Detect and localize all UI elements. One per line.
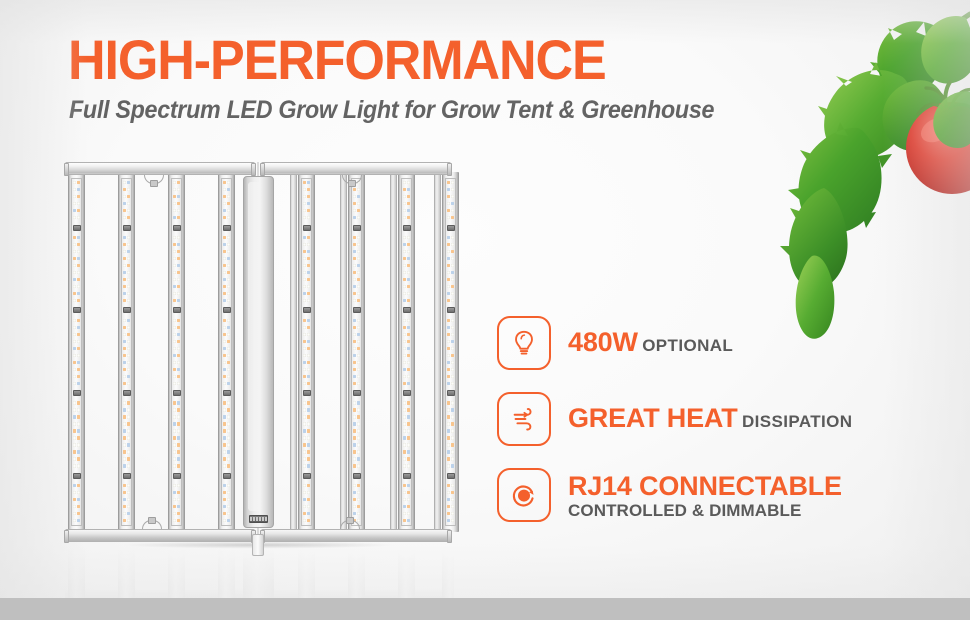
led-chip [77,333,80,336]
led-bar-face [351,178,362,526]
led-chip [407,285,410,288]
led-row [402,216,411,219]
led-chip [127,519,130,522]
led-chip [173,188,176,191]
led-bar-driver-chip [173,307,181,313]
led-chip [353,243,356,246]
led-chip [307,498,310,501]
led-chip [173,415,176,418]
led-chip [223,236,226,239]
led-chip [73,498,76,501]
led-row [402,326,411,329]
led-row [222,464,231,467]
led-row [352,436,361,439]
led-chip [303,202,306,205]
led-row [72,491,81,494]
led-chip [173,347,176,350]
led-chip [73,354,76,357]
led-row [352,450,361,453]
led-chip [407,292,410,295]
led-row [402,436,411,439]
led-chip [173,519,176,522]
led-row [122,443,131,446]
led-row [352,512,361,515]
led-chip [73,326,76,329]
led-chip [357,236,360,239]
led-chip [407,216,410,219]
led-row [446,333,455,336]
led-row [446,354,455,357]
led-chip [227,188,230,191]
led-row [352,209,361,212]
led-row [122,368,131,371]
led-row [222,209,231,212]
led-chip [223,250,226,253]
led-row [302,209,311,212]
led-row [122,188,131,191]
led-row [446,195,455,198]
led-row [352,326,361,329]
led-chip [451,257,454,260]
led-chip [403,326,406,329]
led-chip [447,368,450,371]
led-chip [73,436,76,439]
led-row [72,264,81,267]
led-chip [173,401,176,404]
led-chip [77,450,80,453]
led-chip [127,512,130,515]
led-chip [447,450,450,453]
driver-output-port [249,515,268,523]
led-row [446,271,455,274]
led-chip [177,333,180,336]
led-row [352,422,361,425]
led-chip [223,188,226,191]
led-row [72,319,81,322]
led-chip [447,436,450,439]
led-bar-reflection [218,548,235,600]
led-chip [447,264,450,267]
led-chip [123,505,126,508]
led-chip [173,464,176,467]
led-row [446,443,455,446]
led-chip [353,326,356,329]
led-row [402,181,411,184]
led-chip [223,450,226,453]
led-chip [357,401,360,404]
led-row [222,457,231,460]
led-row [302,457,311,460]
led-chip [303,429,306,432]
led-chip [77,278,80,281]
led-chip [357,368,360,371]
led-row [222,505,231,508]
led-row [352,236,361,239]
led-bar [298,172,315,532]
led-chip [223,319,226,322]
led-row [172,188,181,191]
led-chip [353,340,356,343]
led-chip [407,368,410,371]
led-row [222,292,231,295]
led-chip [451,375,454,378]
feature-item-rj14-connectable[interactable]: RJ14 CONNECTABLE CONTROLLED & DIMMABLE [497,468,857,522]
led-chip [407,257,410,260]
led-chip [353,250,356,253]
tomato-plant-svg [766,0,970,348]
led-row [302,436,311,439]
led-bar [118,172,135,532]
led-chip [223,340,226,343]
feature-item-heat-dissipation[interactable]: GREAT HEAT DISSIPATION [497,392,857,446]
led-chip [173,512,176,515]
led-row [72,271,81,274]
led-chip [127,326,130,329]
led-row [222,415,231,418]
led-chip [223,257,226,260]
led-row [446,340,455,343]
led-row [352,491,361,494]
led-chip [407,354,410,357]
led-chip [357,361,360,364]
led-chip [73,209,76,212]
led-bar-driver-chip [223,307,231,313]
led-chip [227,278,230,281]
led-row [172,464,181,467]
led-chip [403,257,406,260]
led-chip [303,519,306,522]
led-row [172,450,181,453]
led-chip [403,484,406,487]
led-chip [177,361,180,364]
led-row [122,354,131,357]
led-chip [307,333,310,336]
led-row [222,326,231,329]
led-row [352,216,361,219]
led-chip [123,326,126,329]
led-chip [73,347,76,350]
led-chip [123,464,126,467]
led-chip [223,484,226,487]
led-row [172,415,181,418]
led-chip [357,188,360,191]
led-chip [451,422,454,425]
led-chip [403,292,406,295]
led-row [446,216,455,219]
led-chip [403,243,406,246]
led-chip [123,368,126,371]
led-row [122,457,131,460]
led-chip [123,243,126,246]
led-chip [73,195,76,198]
led-row [172,257,181,260]
led-chip [403,188,406,191]
led-chip [73,429,76,432]
led-row [222,422,231,425]
led-chip [353,236,356,239]
led-chip [173,361,176,364]
led-chip [353,361,356,364]
led-row [222,429,231,432]
led-chip [123,299,126,302]
led-row [172,408,181,411]
airflow-icon [497,392,551,446]
led-row [172,340,181,343]
led-chip [451,250,454,253]
led-row [302,429,311,432]
led-chip [227,202,230,205]
led-chip [173,292,176,295]
led-row [172,422,181,425]
led-chip [303,333,306,336]
led-chip [357,443,360,446]
led-row [72,519,81,522]
led-chip [77,326,80,329]
led-row [72,202,81,205]
led-chip [123,361,126,364]
led-row [302,216,311,219]
led-chip [173,443,176,446]
led-chip [227,408,230,411]
led-chip [403,340,406,343]
led-chip [73,512,76,515]
led-bar-driver-chip [123,307,131,313]
led-chip [303,188,306,191]
led-bar-driver-chip [73,473,81,479]
led-chip [177,292,180,295]
led-chip [177,457,180,460]
led-chip [447,188,450,191]
led-row [446,368,455,371]
led-chip [127,209,130,212]
feature-item-wattage[interactable]: 480W OPTIONAL [497,316,857,370]
led-chip [173,257,176,260]
led-bar-reflection [298,548,315,600]
led-chip [123,382,126,385]
led-chip [127,401,130,404]
led-chip [77,264,80,267]
led-chip [77,457,80,460]
led-row [302,188,311,191]
led-chip [447,216,450,219]
led-row [352,264,361,267]
led-row [222,436,231,439]
led-row [302,243,311,246]
led-chip [223,347,226,350]
led-row [172,401,181,404]
led-chip [447,422,450,425]
led-chip [227,181,230,184]
led-bar-driver-chip [303,307,311,313]
led-row [222,347,231,350]
led-chip [177,382,180,385]
led-chip [303,319,306,322]
led-chip [73,292,76,295]
led-row [222,375,231,378]
led-chip [127,491,130,494]
led-row [172,202,181,205]
led-row [446,264,455,267]
led-row [352,354,361,357]
led-row [122,257,131,260]
feature-highlight: RJ14 CONNECTABLE [568,471,842,501]
led-chip [403,285,406,288]
led-row [122,498,131,501]
led-chip [227,505,230,508]
led-row [222,257,231,260]
led-row [352,292,361,295]
led-row [302,299,311,302]
led-row [122,285,131,288]
led-chip [303,271,306,274]
led-chip [77,512,80,515]
led-row [446,491,455,494]
led-row [122,382,131,385]
leaf [870,21,948,96]
led-chip [73,457,76,460]
led-chip [403,436,406,439]
led-row [352,498,361,501]
led-row [122,278,131,281]
led-bar-face [445,178,456,526]
led-chip [353,368,356,371]
led-row [172,375,181,378]
led-chip [451,436,454,439]
led-chip [353,484,356,487]
led-chip [77,375,80,378]
led-chip [173,340,176,343]
led-row [446,319,455,322]
led-chip [407,209,410,212]
feature-highlight: GREAT HEAT [568,403,738,433]
led-chip [403,519,406,522]
led-chip [303,257,306,260]
led-row [172,264,181,267]
led-chip [303,340,306,343]
led-row [302,375,311,378]
led-chip [403,464,406,467]
led-row [402,271,411,274]
led-chip [127,382,130,385]
led-chip [353,505,356,508]
led-chip [403,347,406,350]
led-bar [218,172,235,532]
led-chip [307,257,310,260]
led-chip [123,401,126,404]
led-chip [303,243,306,246]
led-row [122,484,131,487]
led-chip [303,347,306,350]
led-chip [447,250,450,253]
led-row [222,299,231,302]
led-row [352,375,361,378]
led-chip [223,415,226,418]
led-row [402,484,411,487]
led-row [72,450,81,453]
led-chip [123,408,126,411]
led-row [352,202,361,205]
led-row [222,264,231,267]
led-row [402,236,411,239]
led-row [402,202,411,205]
led-chip [303,236,306,239]
led-chip [353,408,356,411]
led-row [172,292,181,295]
led-row [302,347,311,350]
led-row [172,429,181,432]
led-row [72,181,81,184]
led-chip [357,333,360,336]
led-chip [447,333,450,336]
led-chip [451,382,454,385]
led-chip [447,181,450,184]
led-chip [451,209,454,212]
led-chip [177,243,180,246]
led-row [172,443,181,446]
led-bar-driver-chip [403,473,411,479]
led-row [302,333,311,336]
led-chip [227,271,230,274]
led-chip [447,491,450,494]
led-chip [407,361,410,364]
led-chip [177,299,180,302]
led-chip [357,491,360,494]
led-chip [177,264,180,267]
led-chip [357,285,360,288]
led-row [72,415,81,418]
led-chip [357,505,360,508]
led-row [172,519,181,522]
led-chip [177,209,180,212]
led-chip [303,368,306,371]
led-chip [223,368,226,371]
led-chip [407,264,410,267]
led-row [302,401,311,404]
led-row [446,519,455,522]
led-bar-driver-chip [173,390,181,396]
led-row [402,257,411,260]
led-chip [127,415,130,418]
led-row [222,401,231,404]
led-chip [357,257,360,260]
led-chip [447,457,450,460]
led-row [172,505,181,508]
led-row [72,340,81,343]
led-chip [403,181,406,184]
led-row [402,464,411,467]
led-row [122,512,131,515]
led-chip [223,243,226,246]
led-chip [223,382,226,385]
led-row [222,285,231,288]
led-row [402,498,411,501]
led-row [446,457,455,460]
led-chip [307,292,310,295]
led-chip [307,319,310,322]
led-chip [407,243,410,246]
led-chip [227,292,230,295]
led-chip [307,209,310,212]
led-chip [303,457,306,460]
led-chip [303,195,306,198]
tomato-fruit [906,82,970,194]
led-row [402,278,411,281]
led-bar-driver-chip [447,473,455,479]
led-chip [407,498,410,501]
led-chip [77,436,80,439]
led-chip [447,271,450,274]
led-chip [123,195,126,198]
